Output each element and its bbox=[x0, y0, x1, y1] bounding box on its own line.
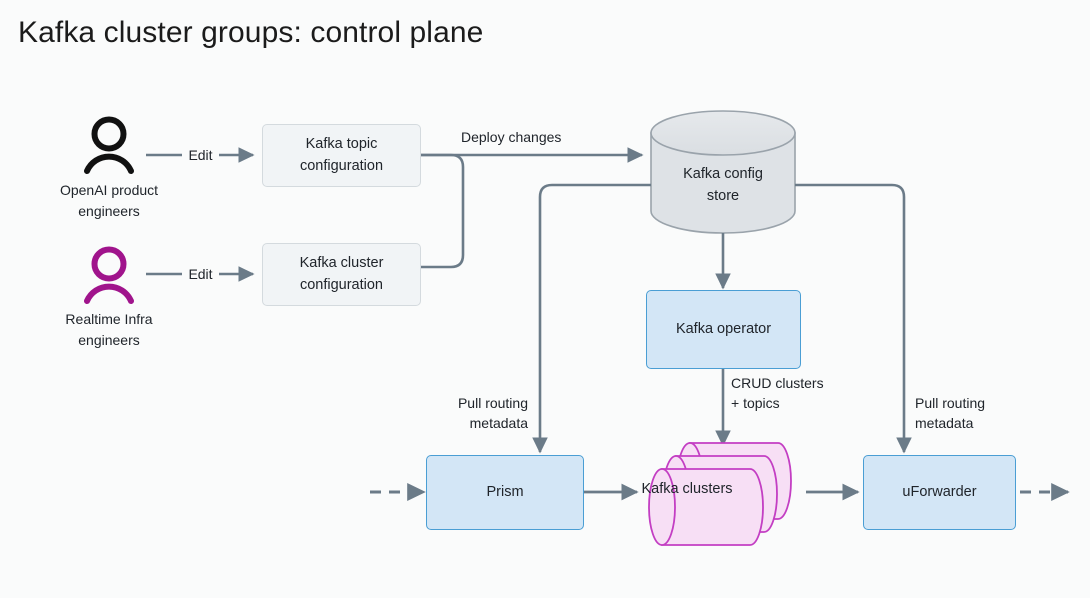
edge-label-crud-clusters-topics: CRUD clusters + topics bbox=[731, 373, 871, 414]
person-icon-openai bbox=[87, 120, 131, 172]
node-prism[interactable]: Prism bbox=[426, 455, 584, 530]
node-kafka-config-store-label: Kafka config store bbox=[651, 164, 795, 208]
edge-store-to-prism bbox=[540, 185, 651, 452]
edge-deploy-changes bbox=[421, 155, 642, 267]
edge-label-pull-routing-metadata-right: Pull routing metadata bbox=[915, 393, 1040, 434]
actor-label-realtime-infra-engineers: Realtime Infra engineers bbox=[29, 309, 189, 351]
node-uforwarder[interactable]: uForwarder bbox=[863, 455, 1016, 530]
page-title: Kafka cluster groups: control plane bbox=[18, 16, 483, 50]
actor-label-openai-product-engineers: OpenAI product engineers bbox=[29, 180, 189, 222]
node-kafka-operator[interactable]: Kafka operator bbox=[646, 290, 801, 369]
node-kafka-clusters-label: Kafka clusters bbox=[592, 481, 782, 497]
node-kafka-topic-configuration[interactable]: Kafka topic configuration bbox=[262, 124, 421, 187]
edge-label-pull-routing-metadata-left: Pull routing metadata bbox=[405, 393, 528, 434]
edge-label-edit-topic: Edit bbox=[178, 145, 223, 165]
edge-label-deploy-changes: Deploy changes bbox=[461, 127, 651, 147]
node-kafka-cluster-configuration[interactable]: Kafka cluster configuration bbox=[262, 243, 421, 306]
person-icon-realtime-infra bbox=[87, 250, 131, 302]
edge-label-edit-cluster: Edit bbox=[178, 264, 223, 284]
